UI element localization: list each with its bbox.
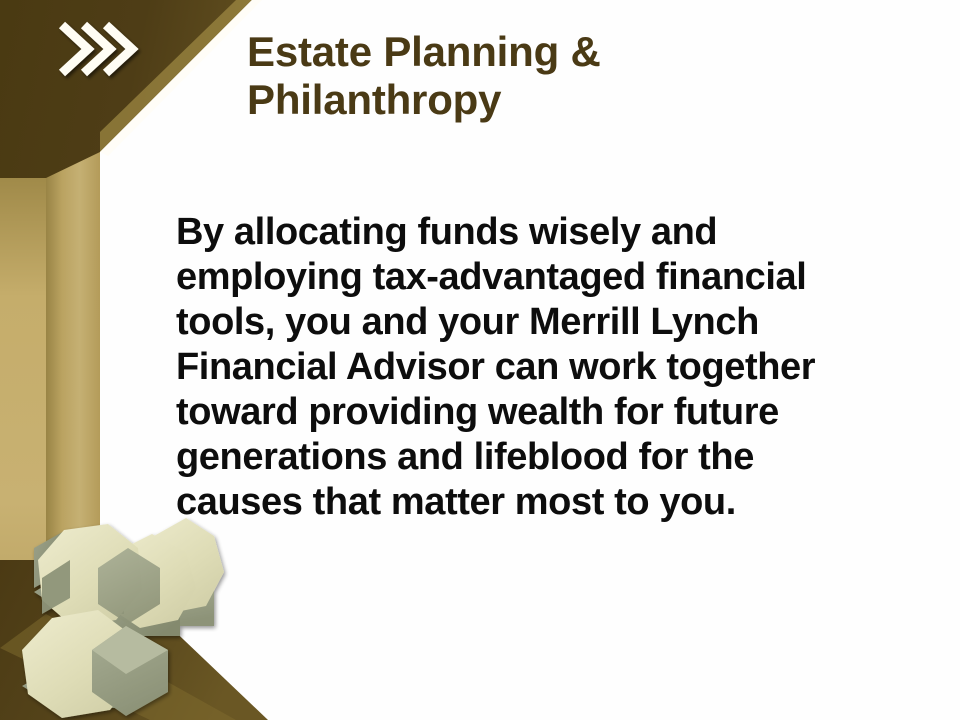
hexagon-blocks-cluster bbox=[22, 518, 224, 718]
bottom-diagonal-band bbox=[0, 560, 268, 720]
left-gold-stripe bbox=[0, 178, 46, 718]
slide-body-text: By allocating funds wisely and employing… bbox=[176, 210, 946, 525]
hexagon-block-upper-right-face bbox=[104, 534, 196, 628]
hexagon-block-right-face bbox=[126, 518, 224, 614]
hexagon-block-right bbox=[126, 518, 224, 626]
hexagon-block-lower-left bbox=[22, 610, 136, 718]
hexagon-cube-wedge-mid-top bbox=[92, 626, 168, 674]
slide-canvas: Estate Planning & Philanthropy By alloca… bbox=[0, 0, 960, 720]
diagonal-gold-stripe bbox=[46, 152, 100, 614]
slide-title: Estate Planning & Philanthropy bbox=[247, 28, 807, 124]
hexagon-block-upper-right bbox=[94, 534, 196, 636]
hexagon-block-lower-left-side bbox=[22, 666, 120, 708]
hexagon-block-wedge-left bbox=[34, 530, 66, 588]
bottom-band-gold-sliver bbox=[0, 614, 236, 720]
hexagon-block-upper-left-face bbox=[38, 524, 142, 626]
chevron-icon-2 bbox=[84, 25, 110, 73]
chevron-icon-1 bbox=[62, 25, 88, 73]
hexagon-inner-wedge-top bbox=[42, 560, 70, 614]
hexagon-cube-wedge-right bbox=[98, 548, 160, 624]
chevron-icon-3 bbox=[106, 25, 132, 73]
hexagon-block-lower-left-face bbox=[22, 610, 136, 718]
hexagon-block-right-side bbox=[126, 586, 214, 626]
hexagon-block-upper-left bbox=[34, 524, 142, 626]
hexagon-cube-wedge-mid bbox=[92, 626, 168, 716]
triple-chevron-right-icon bbox=[62, 25, 132, 73]
hexagon-block-upper-left-side bbox=[34, 572, 124, 614]
hexagon-block-upper-right-side bbox=[94, 598, 180, 636]
corner-banner-highlight bbox=[100, 0, 252, 152]
panel-rim-highlight bbox=[100, 0, 262, 156]
